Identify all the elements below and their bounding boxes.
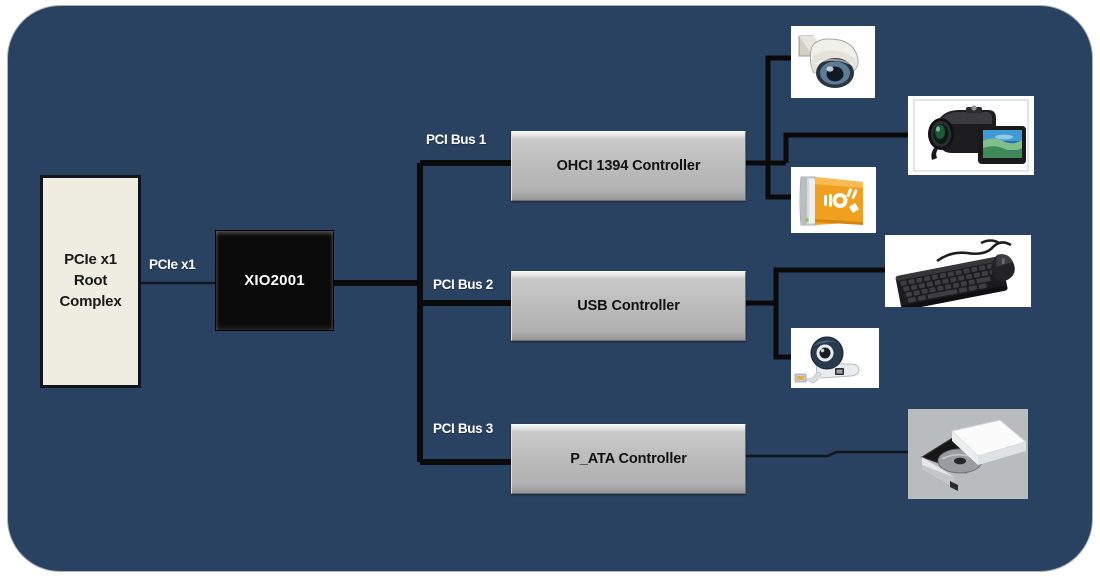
wire-pata-to-odd [746, 452, 908, 456]
dome-security-camera-icon [791, 26, 875, 98]
wire-usb-to-kbd [776, 270, 885, 303]
wire-ohci-to-fw [768, 163, 791, 197]
controller-box-ohci-1394[interactable]: OHCI 1394 Controller [511, 131, 746, 201]
wire-ohci-to-cam [786, 135, 908, 163]
pcie-link-label: PCIe x1 [149, 257, 195, 272]
bridge-chip-label: XIO2001 [244, 272, 305, 289]
root-complex-line1: PCIe x1 [64, 251, 117, 268]
controller-label-ohci: OHCI 1394 Controller [557, 158, 701, 174]
root-complex-line3: Complex [60, 293, 122, 310]
root-complex-line2: Root [74, 272, 107, 289]
webcam-icon [791, 328, 879, 388]
diagram-canvas: PCIe x1 Root Complex XIO2001 PCIe x1 PCI… [0, 0, 1100, 577]
controller-box-pata[interactable]: P_ATA Controller [511, 424, 746, 494]
firewire-external-drive-icon [791, 167, 876, 233]
bus-label-3: PCI Bus 3 [433, 421, 493, 436]
bus-label-2: PCI Bus 2 [433, 277, 493, 292]
root-complex-box[interactable]: PCIe x1 Root Complex [40, 175, 141, 388]
root-complex-label: PCIe x1 Root Complex [60, 250, 122, 312]
bus-label-1: PCI Bus 1 [426, 132, 486, 147]
controller-label-usb: USB Controller [577, 298, 680, 314]
controller-label-pata: P_ATA Controller [570, 451, 687, 467]
controller-box-usb[interactable]: USB Controller [511, 271, 746, 341]
wire-usb-to-webcam [776, 303, 791, 357]
bridge-chip-xio2001[interactable]: XIO2001 [215, 230, 334, 331]
camcorder-icon [908, 96, 1034, 175]
optical-disc-drive-icon [908, 409, 1028, 499]
keyboard-mouse-icon [885, 235, 1031, 307]
